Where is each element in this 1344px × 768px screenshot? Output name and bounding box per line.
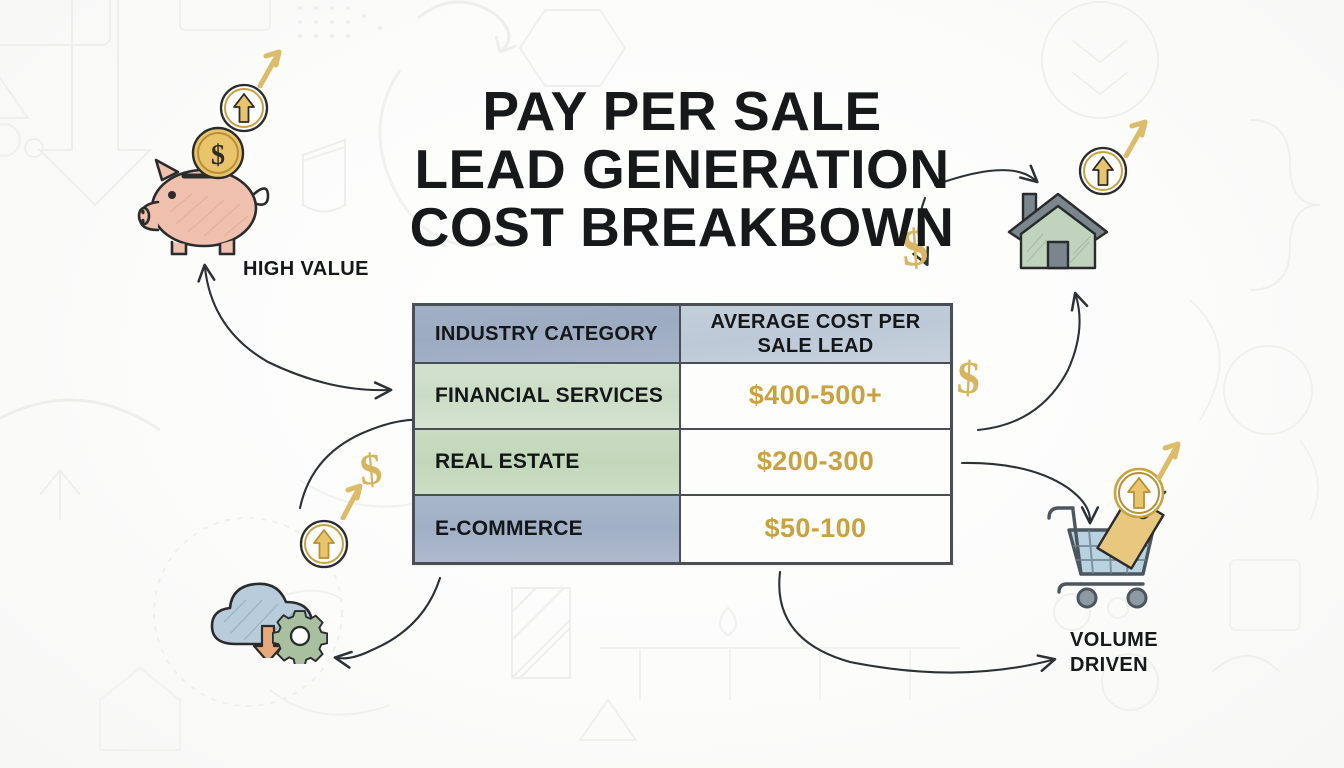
row-category-real-estate: REAL ESTATE [415, 430, 681, 496]
label-volume-driven-line2: DRIVEN [1070, 654, 1148, 676]
table-header-cost-line1: AVERAGE COST PER [710, 311, 920, 333]
row-category-financial-services: FINANCIAL SERVICES [415, 364, 681, 430]
arrow-realestate-to-house [978, 296, 1080, 430]
arrow-up-coin-icon [298, 518, 350, 570]
gold-trend-arrow-icon [335, 482, 367, 520]
row-cost-financial-services: $400-500+ [681, 364, 950, 430]
arrow-table-to-cloud [338, 578, 440, 658]
row-category-ecommerce: E-COMMERCE [415, 496, 681, 562]
cost-value: $400-500+ [749, 380, 882, 411]
category-label: E-COMMERCE [435, 517, 583, 541]
cost-value: $50-100 [765, 513, 867, 544]
table-row: E-COMMERCE $50-100 [415, 496, 950, 562]
category-label: REAL ESTATE [435, 450, 580, 474]
table-row: REAL ESTATE $200-300 [415, 430, 950, 496]
house-icon [1003, 188, 1113, 274]
svg-text:$: $ [211, 140, 225, 171]
table-header-row: INDUSTRY CATEGORY AVERAGE COST PER SALE … [415, 306, 950, 364]
cost-value: $200-300 [757, 446, 874, 477]
cost-breakdown-table: INDUSTRY CATEGORY AVERAGE COST PER SALE … [412, 303, 953, 565]
arrow-piggy-to-financial [205, 268, 388, 390]
gold-trend-arrow-icon [252, 48, 286, 88]
title-line-2: LEAD GENERATION [392, 140, 972, 198]
label-volume-driven: VOLUME DRIVEN [1070, 628, 1158, 678]
category-label: FINANCIAL SERVICES [435, 384, 663, 408]
page-title: PAY PER SALE LEAD GENERATION COST BREAKB… [392, 82, 972, 256]
row-cost-ecommerce: $50-100 [681, 496, 950, 562]
row-cost-real-estate: $200-300 [681, 430, 950, 496]
table-header-cost: AVERAGE COST PER SALE LEAD [681, 306, 950, 364]
table-row: FINANCIAL SERVICES $400-500+ [415, 364, 950, 430]
label-volume-driven-line1: VOLUME [1070, 629, 1158, 651]
arrow-up-coin-icon [218, 82, 270, 134]
label-high-value: HIGH VALUE [243, 257, 369, 282]
table-header-cost-line2: SALE LEAD [757, 335, 873, 357]
gold-trend-arrow-icon [1151, 440, 1185, 480]
gold-trend-arrow-icon [1118, 118, 1152, 158]
title-line-1: PAY PER SALE [392, 82, 972, 140]
infographic-canvas: PAY PER SALE LEAD GENERATION COST BREAKB… [0, 0, 1344, 768]
arrow-table-to-volume-driven [779, 572, 1052, 673]
table-header-category-label: INDUSTRY CATEGORY [435, 322, 658, 346]
table-header-cost-label: AVERAGE COST PER SALE LEAD [710, 310, 920, 358]
gear-icon [272, 608, 328, 664]
table-header-category: INDUSTRY CATEGORY [415, 306, 681, 364]
title-line-3: COST BREAKBOWN [392, 198, 972, 256]
dollar-sign-decoration-mid-right: $ [956, 354, 981, 401]
